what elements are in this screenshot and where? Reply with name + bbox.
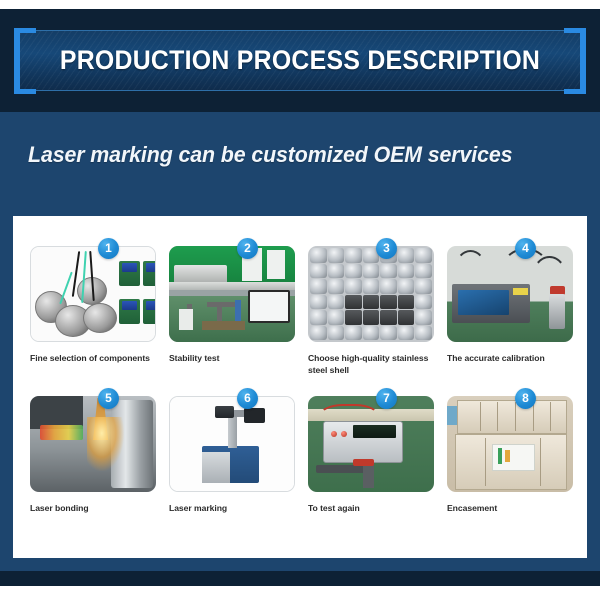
steps-panel: 1 <box>13 216 587 558</box>
step-item: 1 <box>22 246 161 396</box>
step-badge: 2 <box>237 238 258 259</box>
bottom-blue-band <box>0 558 600 571</box>
step-item: 7 To test again <box>300 396 439 546</box>
subtitle-band: Laser marking can be customized OEM serv… <box>0 112 600 212</box>
step-caption: Encasement <box>447 502 579 514</box>
laser-bonding-photo <box>30 396 156 492</box>
encasement-boxes-photo <box>447 396 573 492</box>
step-caption: Stability test <box>169 352 301 364</box>
title-band: PRODUCTION PROCESS DESCRIPTION <box>0 9 600 112</box>
bottom-dark-band <box>0 571 600 586</box>
step-item: 8 Encasem <box>439 396 578 546</box>
step-item: 6 Laser marking <box>161 396 300 546</box>
step-image-card <box>308 396 434 492</box>
components-photo <box>31 247 155 341</box>
step-badge: 7 <box>376 388 397 409</box>
step-badge: 3 <box>376 238 397 259</box>
production-process-infographic: PRODUCTION PROCESS DESCRIPTION Laser mar… <box>0 0 600 600</box>
stability-test-photo <box>169 246 295 342</box>
step-item: 2 <box>161 246 300 396</box>
multimeter-test-photo <box>308 396 434 492</box>
step-badge: 6 <box>237 388 258 409</box>
step-image-card <box>447 246 573 342</box>
calibration-instrument-photo <box>447 246 573 342</box>
page-title: PRODUCTION PROCESS DESCRIPTION <box>24 9 576 112</box>
step-badge: 1 <box>98 238 119 259</box>
step-caption: Laser bonding <box>30 502 162 514</box>
step-badge: 4 <box>515 238 536 259</box>
stainless-shells-photo <box>308 246 434 342</box>
step-item: 5 Laser bonding <box>22 396 161 546</box>
step-image-card <box>169 396 295 492</box>
step-caption: The accurate calibration <box>447 352 579 364</box>
step-caption: Choose high-quality stainless steel shel… <box>308 352 440 376</box>
steps-grid: 1 <box>22 246 578 546</box>
step-item: 3 Choose high-quality stainless stee <box>300 246 439 396</box>
step-image-card <box>447 396 573 492</box>
page-subtitle: Laser marking can be customized OEM serv… <box>28 142 571 168</box>
step-badge: 8 <box>515 388 536 409</box>
step-image-card <box>30 246 156 342</box>
step-image-card <box>308 246 434 342</box>
step-badge: 5 <box>98 388 119 409</box>
laser-marking-machine-photo <box>170 397 294 491</box>
step-image-card <box>30 396 156 492</box>
step-caption: To test again <box>308 502 440 514</box>
step-caption: Laser marking <box>169 502 301 514</box>
step-item: 4 The accurate calibration <box>439 246 578 396</box>
step-caption: Fine selection of components <box>30 352 162 364</box>
step-image-card <box>169 246 295 342</box>
